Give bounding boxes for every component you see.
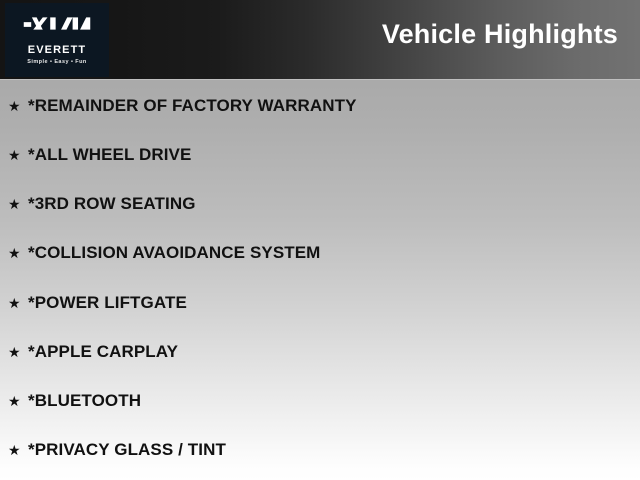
dealer-tagline: Simple • Easy • Fun — [27, 58, 86, 66]
highlight-label: *APPLE CARPLAY — [28, 341, 178, 363]
highlight-label: *PRIVACY GLASS / TINT — [28, 439, 226, 461]
star-icon: ★ — [8, 390, 28, 412]
highlight-label: *ALL WHEEL DRIVE — [28, 144, 191, 166]
vehicle-highlights-card: EVERETT Simple • Easy • Fun Vehicle High… — [0, 0, 640, 480]
header-bar: EVERETT Simple • Easy • Fun Vehicle High… — [0, 0, 640, 79]
list-item: ★ *3RD ROW SEATING — [8, 193, 196, 215]
star-icon: ★ — [8, 242, 28, 264]
star-icon: ★ — [8, 144, 28, 166]
highlights-list: ★ *REMAINDER OF FACTORY WARRANTY ★ *ALL … — [0, 79, 640, 480]
star-icon: ★ — [8, 95, 28, 117]
star-icon: ★ — [8, 439, 28, 461]
highlight-label: *REMAINDER OF FACTORY WARRANTY — [28, 95, 357, 117]
list-item: ★ *BLUETOOTH — [8, 390, 141, 412]
highlight-label: *POWER LIFTGATE — [28, 292, 187, 314]
list-item: ★ *REMAINDER OF FACTORY WARRANTY — [8, 95, 357, 117]
page-title: Vehicle Highlights — [382, 18, 618, 50]
star-icon: ★ — [8, 193, 28, 215]
kia-logo-icon — [23, 14, 91, 33]
list-item: ★ *POWER LIFTGATE — [8, 292, 187, 314]
list-item: ★ *COLLISION AVAOIDANCE SYSTEM — [8, 242, 320, 264]
highlight-label: *BLUETOOTH — [28, 390, 141, 412]
highlight-label: *3RD ROW SEATING — [28, 193, 196, 215]
highlight-label: *COLLISION AVAOIDANCE SYSTEM — [28, 242, 320, 264]
dealer-logo-panel: EVERETT Simple • Easy • Fun — [5, 3, 109, 77]
star-icon: ★ — [8, 292, 28, 314]
list-item: ★ *APPLE CARPLAY — [8, 341, 178, 363]
star-icon: ★ — [8, 341, 28, 363]
list-item: ★ *ALL WHEEL DRIVE — [8, 144, 191, 166]
list-item: ★ *PRIVACY GLASS / TINT — [8, 439, 226, 461]
dealer-name: EVERETT — [28, 44, 86, 56]
